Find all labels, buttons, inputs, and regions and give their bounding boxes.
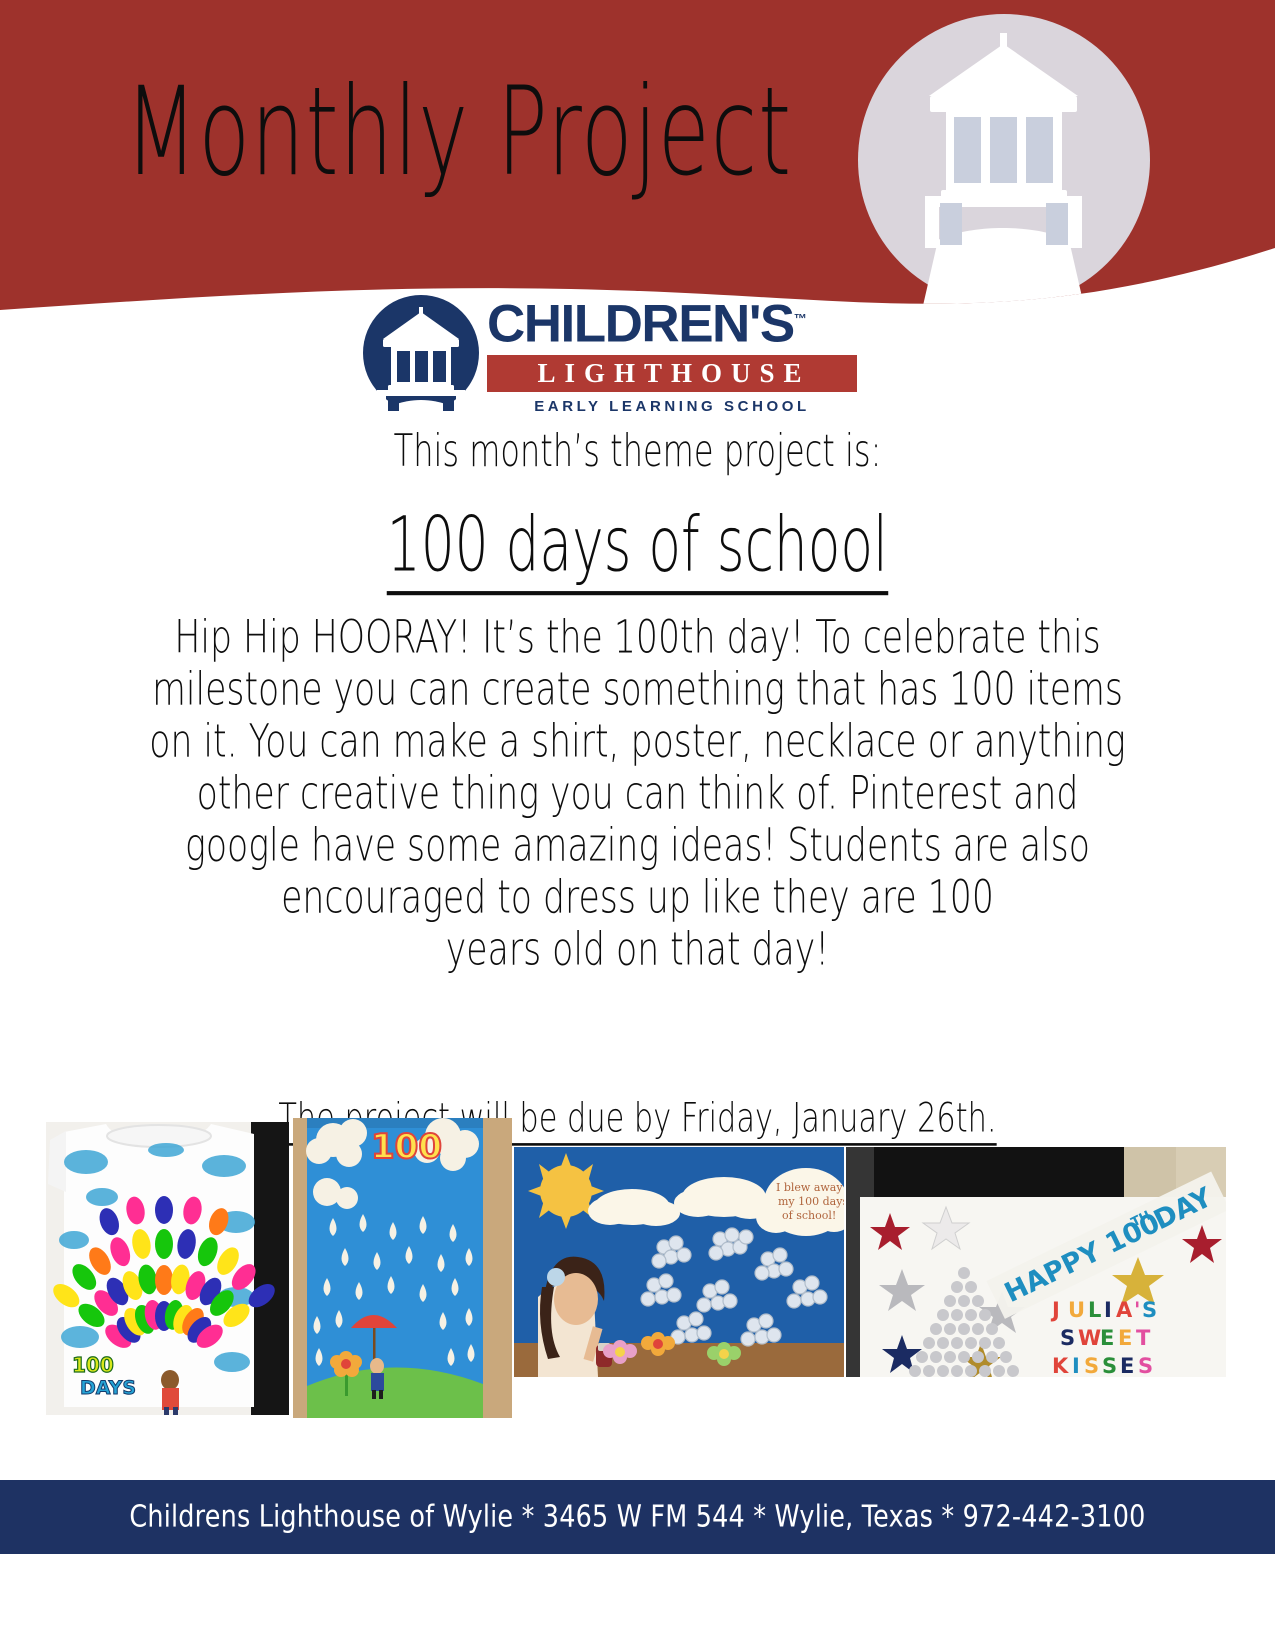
footer-contact-text: Childrens Lighthouse of Wylie * 3465 W F… [129,1499,1145,1534]
body-paragraph: Hip Hip HOORAY! It’s the 100th day! To c… [61,612,1214,976]
photo3-caption: I blew away [776,1181,843,1194]
theme-subtitle: This month’s theme project is: [19,424,1256,477]
brand-name-label: CHILDREN'S [487,295,794,354]
trademark-icon: ™ [794,311,807,326]
svg-text:of school!: of school! [782,1209,836,1222]
svg-text:K: K [1052,1354,1069,1377]
photo-kisses-board: HAPPY 100 TH DAY J U L I A ' S S W E E [846,1147,1226,1377]
brand-name: CHILDREN'S™ [487,291,857,353]
brand-band: LIGHTHOUSE [487,355,857,392]
photo-bubbles-board: I blew away my 100 days of school! [514,1147,844,1377]
photo-strip: 100 DAYS [46,1118,1226,1418]
brand-logo: CHILDREN'S™ LIGHTHOUSE EARLY LEARNING SC… [363,291,858,413]
photo2-caption: 100 [371,1127,442,1167]
body-line: google have some amazing ideas! Students… [61,820,1214,872]
photo1-caption: 100 [72,1353,114,1377]
theme-title: 100 days of school [387,500,888,595]
body-line: on it. You can make a shirt, poster, nec… [61,716,1214,768]
svg-text:S: S [1138,1354,1153,1377]
body-line: Hip Hip HOORAY! It’s the 100th day! To c… [61,612,1214,664]
svg-text:L: L [1088,1298,1101,1322]
svg-text:I: I [1104,1298,1112,1322]
flyer-page: Monthly Project [0,0,1275,1650]
svg-text:': ' [1134,1298,1140,1322]
svg-text:S: S [1102,1354,1117,1377]
svg-text:U: U [1068,1298,1085,1322]
svg-text:S: S [1084,1354,1099,1377]
svg-text:S: S [1142,1298,1157,1322]
svg-text:DAYS: DAYS [80,1377,136,1399]
page-title: Monthly Project [125,62,792,204]
svg-text:I: I [1072,1354,1080,1377]
footer-bar: Childrens Lighthouse of Wylie * 3465 W F… [0,1480,1275,1554]
svg-text:E: E [1120,1354,1134,1377]
svg-text:A: A [1116,1298,1133,1322]
lighthouse-logo-icon [363,295,479,411]
body-line: encouraged to dress up like they are 100 [61,872,1214,924]
theme-title-row: 100 days of school [0,500,1275,569]
svg-text:E: E [1100,1326,1114,1350]
photo-rain-poster: 100 [293,1118,512,1418]
svg-text:E: E [1118,1326,1132,1350]
brand-logo-text: CHILDREN'S™ LIGHTHOUSE EARLY LEARNING SC… [487,291,857,415]
svg-text:T: T [1136,1326,1151,1350]
photo-balloon-tshirt: 100 DAYS [46,1122,289,1415]
svg-text:S: S [1060,1326,1075,1350]
svg-text:W: W [1078,1326,1101,1350]
body-line: milestone you can create something that … [61,664,1214,716]
svg-text:J: J [1050,1298,1060,1322]
brand-tagline: EARLY LEARNING SCHOOL [487,398,857,415]
body-line: other creative thing you can think of. P… [61,768,1214,820]
body-line: years old on that day! [61,924,1214,976]
header-banner: Monthly Project [0,0,1275,310]
svg-text:my 100 days: my 100 days [778,1195,844,1208]
